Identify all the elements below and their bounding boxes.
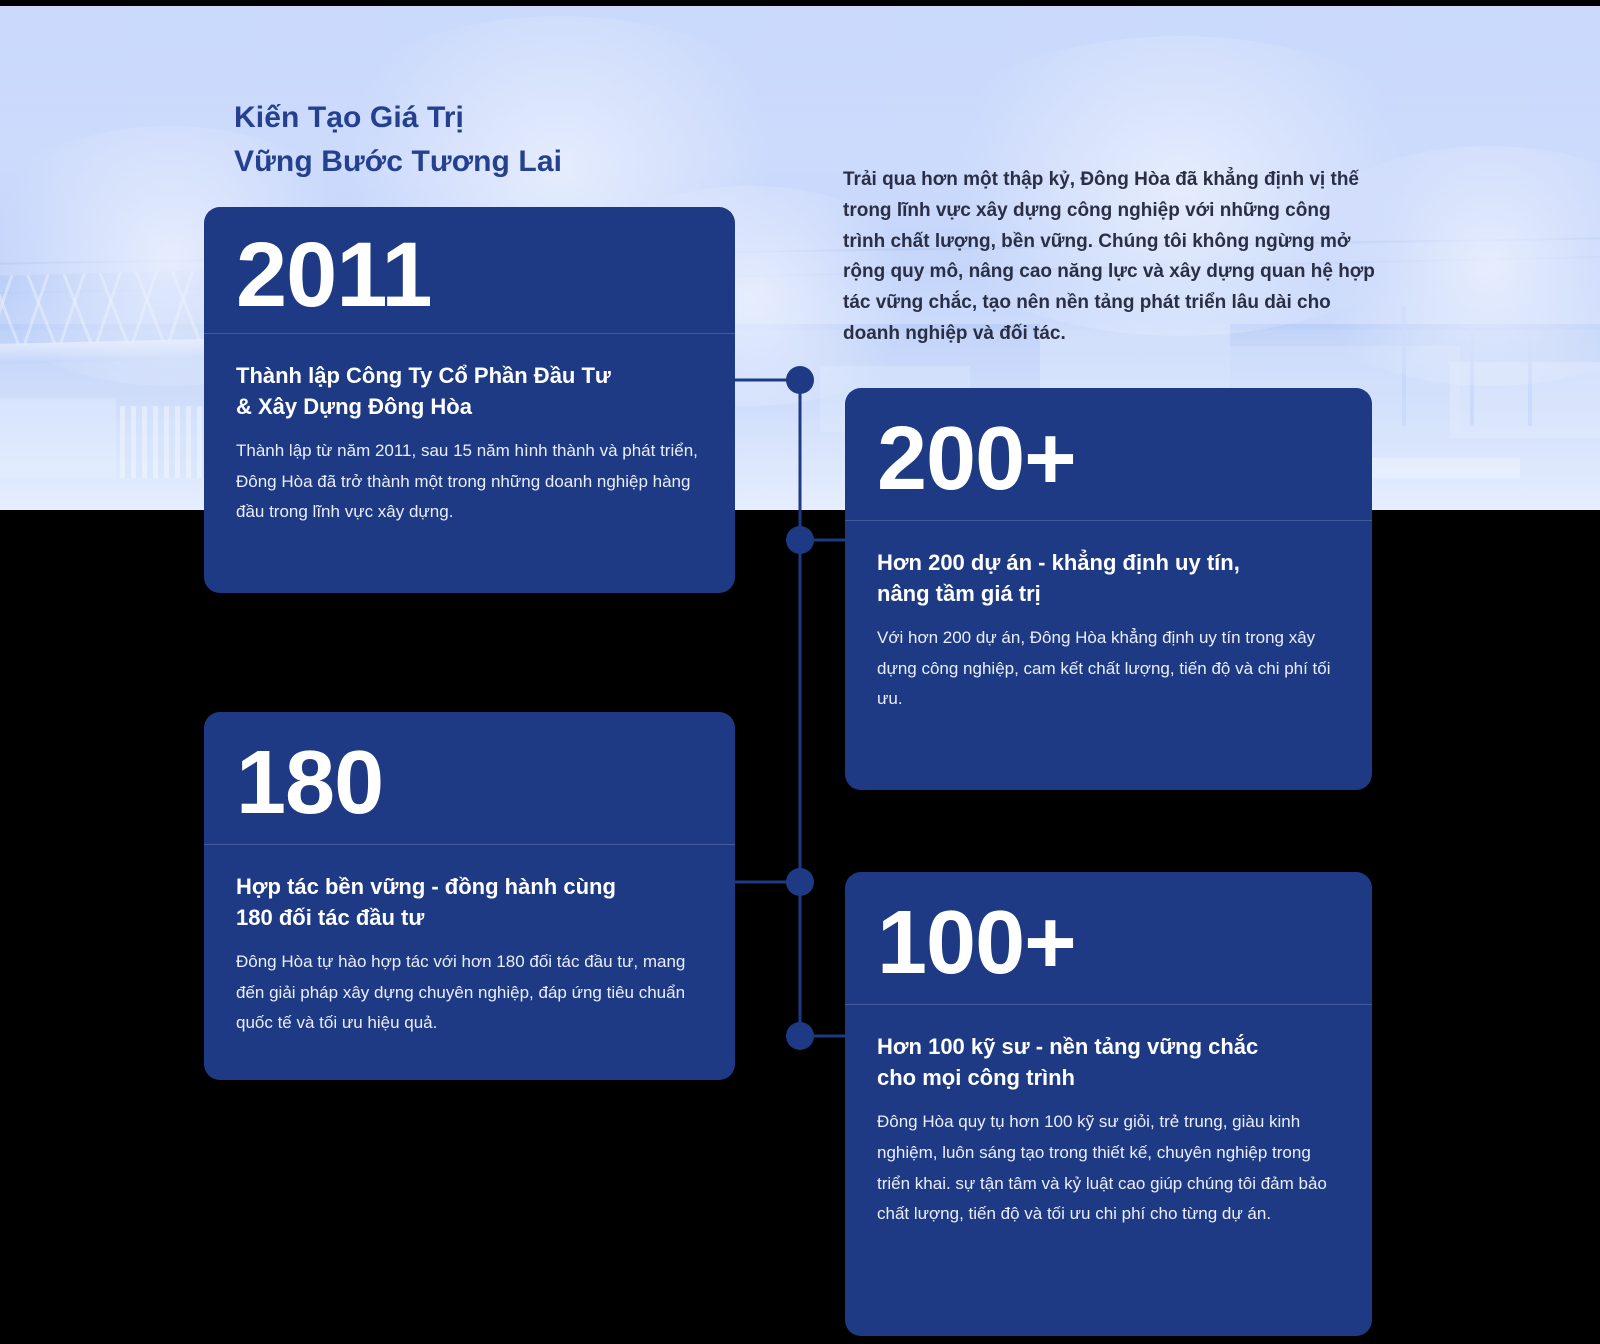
- stat-number: 2011: [236, 229, 703, 321]
- stat-heading: Thành lập Công Ty Cổ Phần Đầu Tư & Xây D…: [236, 360, 703, 422]
- stat-number: 180: [236, 738, 703, 828]
- stat-description: Đông Hòa quy tụ hơn 100 kỹ sư giỏi, trẻ …: [877, 1107, 1340, 1229]
- stat-body-zone: Thành lập Công Ty Cổ Phần Đầu Tư & Xây D…: [204, 334, 735, 555]
- stat-description: Thành lập từ năm 2011, sau 15 năm hình t…: [236, 436, 703, 527]
- timeline-node-100plus: [786, 1022, 814, 1050]
- page-title: Kiến Tạo Giá Trị Vững Bước Tương Lai: [234, 96, 562, 183]
- stat-number-zone: 100+: [845, 872, 1372, 1005]
- stat-heading: Hơn 200 dự án - khẳng định uy tín, nâng …: [877, 547, 1340, 609]
- stat-body-zone: Hợp tác bền vững - đồng hành cùng 180 đố…: [204, 845, 735, 1066]
- stat-number-zone: 180: [204, 712, 735, 845]
- stat-body-zone: Hơn 200 dự án - khẳng định uy tín, nâng …: [845, 521, 1372, 742]
- stat-number: 100+: [877, 898, 1340, 988]
- stat-card-100plus[interactable]: 100+ Hơn 100 kỹ sư - nền tảng vững chắc …: [845, 872, 1372, 1336]
- stat-card-2011[interactable]: 2011 Thành lập Công Ty Cổ Phần Đầu Tư & …: [204, 207, 735, 593]
- stat-description: Với hơn 200 dự án, Đông Hòa khẳng định u…: [877, 623, 1340, 714]
- intro-paragraph: Trải qua hơn một thập kỷ, Đông Hòa đã kh…: [843, 165, 1378, 350]
- stat-number-zone: 2011: [204, 207, 735, 334]
- stat-number: 200+: [877, 414, 1340, 504]
- stat-card-180[interactable]: 180 Hợp tác bền vững - đồng hành cùng 18…: [204, 712, 735, 1080]
- stat-body-zone: Hơn 100 kỹ sư - nền tảng vững chắc cho m…: [845, 1005, 1372, 1258]
- stat-card-200plus[interactable]: 200+ Hơn 200 dự án - khẳng định uy tín, …: [845, 388, 1372, 790]
- timeline-node-180: [786, 868, 814, 896]
- stat-heading: Hơn 100 kỹ sư - nền tảng vững chắc cho m…: [877, 1031, 1340, 1093]
- stat-number-zone: 200+: [845, 388, 1372, 521]
- stat-heading: Hợp tác bền vững - đồng hành cùng 180 đố…: [236, 871, 703, 933]
- stat-description: Đông Hòa tự hào hợp tác với hơn 180 đối …: [236, 947, 703, 1038]
- timeline-node-200plus: [786, 526, 814, 554]
